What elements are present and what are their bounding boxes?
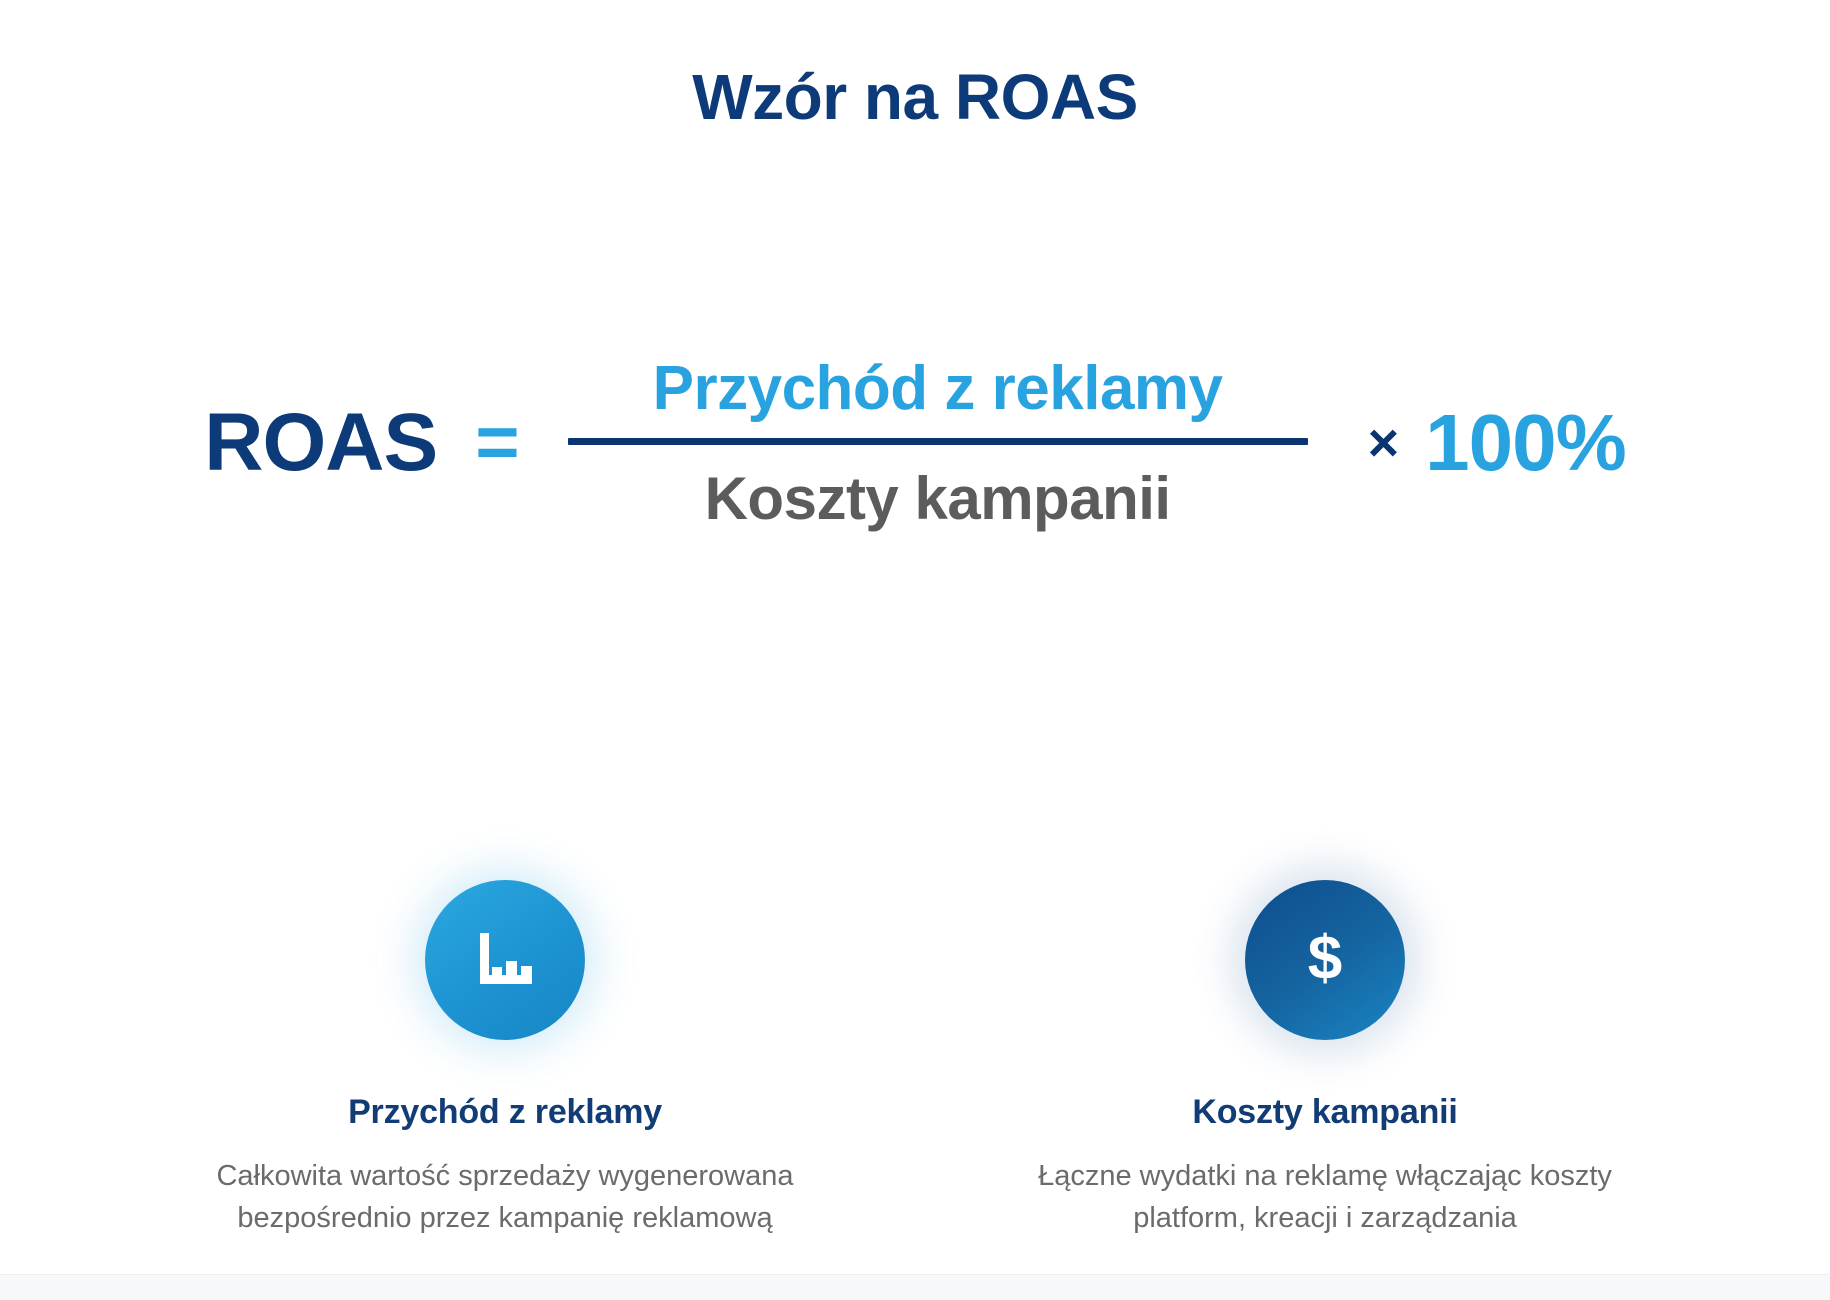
dollar-sign-icon: $ [1288,923,1362,997]
card-title-costs: Koszty kampanii [1192,1092,1457,1133]
card-description-costs: Łączne wydatki na reklamę włączając kosz… [1010,1155,1640,1239]
bar-chart-icon [468,923,542,997]
formula-lhs-roas: ROAS [204,402,437,484]
formula-denominator: Koszty kampanii [683,445,1193,536]
fraction-bar [568,438,1308,445]
formula-numerator: Przychód z reklamy [631,350,1245,438]
page-title: Wzór na ROAS [0,62,1830,132]
svg-text:$: $ [1308,924,1342,993]
roas-formula: ROAS = Przychód z reklamy Koszty kampani… [0,350,1830,536]
card-costs: $ Koszty kampanii Łączne wydatki na rekl… [1005,880,1645,1239]
formula-percent-value: 100% [1425,403,1626,483]
bottom-divider-strip [0,1274,1830,1300]
formula-multiply-sign: × [1368,416,1400,470]
formula-fraction: Przychód z reklamy Koszty kampanii [568,350,1308,536]
card-revenue: Przychód z reklamy Całkowita wartość spr… [185,880,825,1239]
formula-equals-sign: = [475,405,519,481]
revenue-icon-circle [425,880,585,1040]
costs-icon-circle: $ [1245,880,1405,1040]
card-description-revenue: Całkowita wartość sprzedaży wygenerowana… [190,1155,820,1239]
card-title-revenue: Przychód z reklamy [348,1092,662,1133]
definition-cards: Przychód z reklamy Całkowita wartość spr… [0,880,1830,1239]
infographic-page: Wzór na ROAS ROAS = Przychód z reklamy K… [0,0,1830,1300]
